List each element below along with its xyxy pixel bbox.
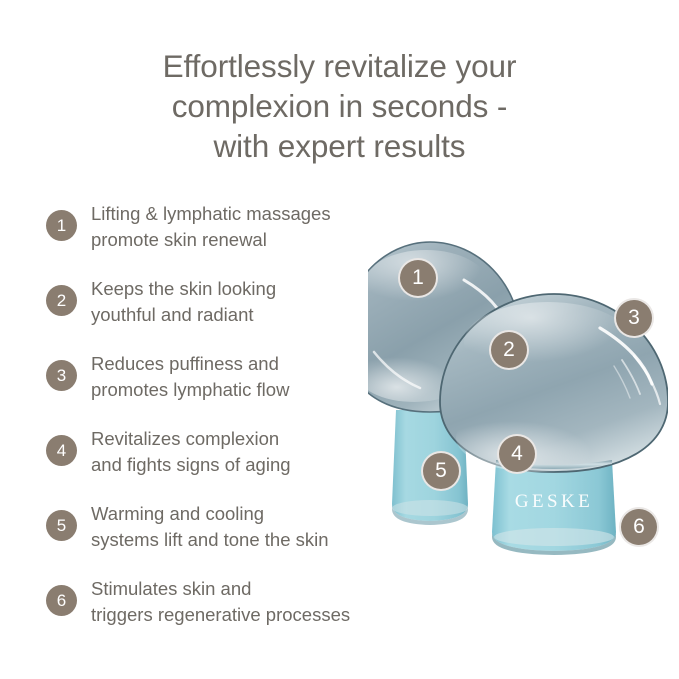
promo-graphic: Effortlessly revitalize your complexion … — [0, 0, 679, 679]
benefit-number-badge: 3 — [46, 360, 77, 391]
benefit-text: Stimulates skin and triggers regenerativ… — [91, 575, 350, 628]
benefit-text: Reduces puffiness and promotes lymphatic… — [91, 350, 289, 403]
product-callout-6: 6 — [619, 507, 659, 547]
brand-wordmark: GESKE — [515, 491, 593, 512]
benefit-number-badge: 5 — [46, 510, 77, 541]
benefit-number-badge: 2 — [46, 285, 77, 316]
benefit-number-badge: 4 — [46, 435, 77, 466]
product-callout-3: 3 — [614, 298, 654, 338]
benefit-text: Revitalizes complexion and fights signs … — [91, 425, 291, 478]
benefit-text: Keeps the skin looking youthful and radi… — [91, 275, 276, 328]
benefit-number-badge: 1 — [46, 210, 77, 241]
benefit-number-badge: 6 — [46, 585, 77, 616]
product-callout-1: 1 — [398, 258, 438, 298]
benefit-text: Lifting & lymphatic massages promote ski… — [91, 200, 331, 253]
benefit-text: Warming and cooling systems lift and ton… — [91, 500, 329, 553]
product-callout-2: 2 — [489, 330, 529, 370]
product-callout-5: 5 — [421, 451, 461, 491]
page-title: Effortlessly revitalize your complexion … — [0, 46, 679, 166]
list-item: 6 Stimulates skin and triggers regenerat… — [46, 575, 446, 628]
product-callout-4: 4 — [497, 434, 537, 474]
